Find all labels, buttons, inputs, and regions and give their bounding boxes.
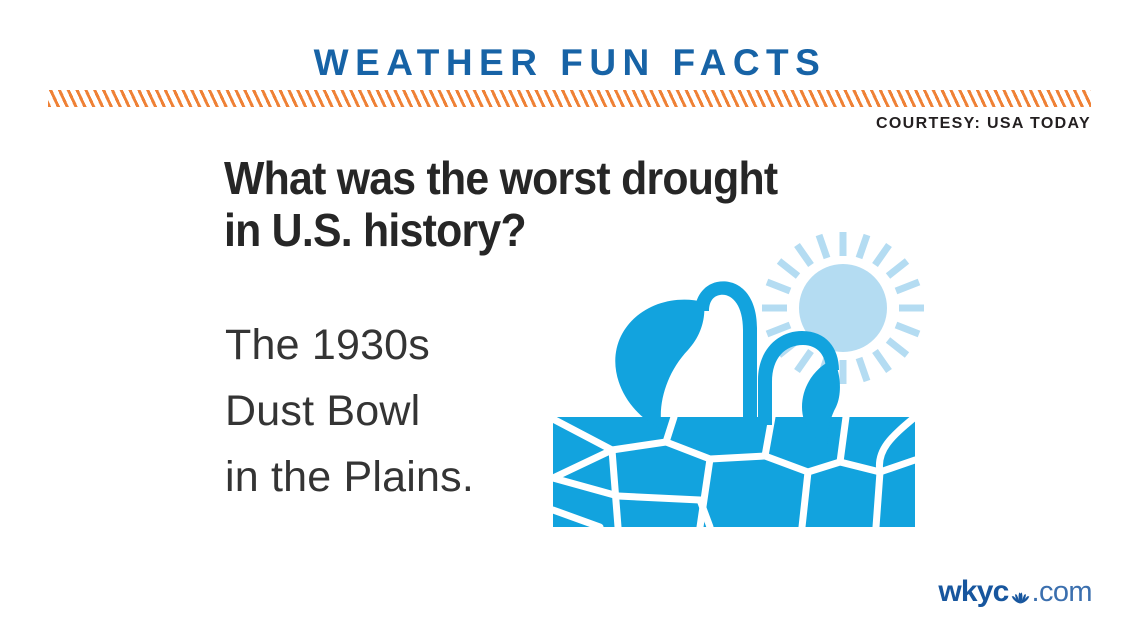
drought-illustration — [540, 210, 940, 540]
wilting-plant-icon — [615, 281, 757, 429]
logo-domain: .com — [1032, 577, 1092, 607]
answer-line-3: in the Plains. — [225, 444, 474, 510]
logo-wordmark: wkyc — [938, 577, 1008, 607]
fun-fact-card: WEATHER FUN FACTS COURTESY: USA TODAY Wh… — [0, 0, 1140, 641]
question-line-1: What was the worst drought — [224, 152, 777, 204]
cracked-ground-icon — [553, 417, 915, 527]
answer-line-2: Dust Bowl — [225, 378, 474, 444]
wkyc-logo[interactable]: wkyc .com — [938, 575, 1092, 609]
page-title: WEATHER FUN FACTS — [0, 42, 1140, 84]
answer-line-1: The 1930s — [225, 312, 474, 378]
sun-icon — [762, 232, 924, 384]
diagonal-hatch-divider — [48, 90, 1091, 107]
nbc-peacock-icon — [1010, 584, 1031, 605]
courtesy-credit: COURTESY: USA TODAY — [876, 115, 1091, 133]
answer-text: The 1930s Dust Bowl in the Plains. — [225, 312, 474, 510]
